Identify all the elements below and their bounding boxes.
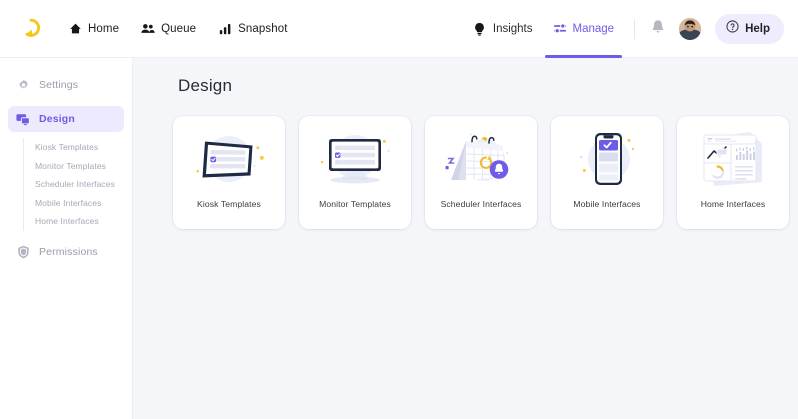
card-scheduler-interfaces[interactable]: Scheduler Interfaces bbox=[425, 116, 537, 229]
sidebar-item-design-label: Design bbox=[39, 113, 75, 125]
nav-item-manage[interactable]: Manage bbox=[543, 11, 625, 47]
people-icon bbox=[141, 22, 155, 36]
sidebar-sublist: Kiosk Templates Monitor Templates Schedu… bbox=[23, 138, 124, 231]
sidebar-subitem-monitor-templates[interactable]: Monitor Templates bbox=[35, 157, 124, 176]
nav-item-home[interactable]: Home bbox=[68, 22, 119, 36]
sidebar-item-settings-label: Settings bbox=[39, 79, 78, 91]
sidebar-item-permissions-label: Permissions bbox=[39, 246, 98, 258]
nav-item-home-label: Home bbox=[88, 23, 119, 35]
desktop-monitor-illustration bbox=[314, 128, 396, 190]
secondary-nav: Insights Manage bbox=[463, 11, 784, 47]
card-mobile-interfaces[interactable]: Mobile Interfaces bbox=[551, 116, 663, 229]
nav-item-manage-label: Manage bbox=[573, 23, 615, 35]
help-button[interactable]: Help bbox=[715, 14, 784, 44]
sidebar-item-settings[interactable]: Settings bbox=[8, 72, 124, 98]
sidebar-spacer bbox=[8, 98, 124, 106]
dashboard-illustration bbox=[692, 128, 774, 190]
card-home-interfaces-label: Home Interfaces bbox=[701, 199, 766, 209]
card-kiosk-templates[interactable]: Kiosk Templates bbox=[173, 116, 285, 229]
help-button-label: Help bbox=[745, 23, 770, 35]
card-home-interfaces[interactable]: Home Interfaces bbox=[677, 116, 789, 229]
sidebar: Settings Design Kiosk Templates Monitor … bbox=[0, 58, 133, 419]
q-logo-icon[interactable] bbox=[18, 16, 44, 42]
question-circle-icon bbox=[726, 20, 739, 38]
primary-nav: Home Queue bbox=[68, 22, 288, 36]
nav-item-snapshot[interactable]: Snapshot bbox=[218, 22, 287, 36]
top-header: Home Queue bbox=[0, 0, 798, 58]
sidebar-subitem-kiosk-templates[interactable]: Kiosk Templates bbox=[35, 138, 124, 157]
mobile-phone-illustration bbox=[566, 128, 648, 190]
kiosk-tablet-illustration bbox=[188, 128, 270, 190]
bar-chart-icon bbox=[218, 22, 232, 36]
calendar-bell-illustration bbox=[440, 128, 522, 190]
home-icon bbox=[68, 22, 82, 36]
nav-item-queue-label: Queue bbox=[161, 23, 196, 35]
sidebar-subitem-mobile-interfaces[interactable]: Mobile Interfaces bbox=[35, 194, 124, 213]
card-monitor-templates-label: Monitor Templates bbox=[319, 199, 391, 209]
shield-icon bbox=[16, 245, 30, 259]
gear-icon bbox=[16, 78, 30, 92]
header-divider bbox=[634, 19, 635, 39]
lightbulb-icon bbox=[473, 22, 487, 36]
main-content: Design bbox=[133, 58, 798, 419]
body: Settings Design Kiosk Templates Monitor … bbox=[0, 58, 798, 419]
nav-item-queue[interactable]: Queue bbox=[141, 22, 196, 36]
nav-item-insights-label: Insights bbox=[493, 23, 533, 35]
sidebar-item-design[interactable]: Design bbox=[8, 106, 124, 132]
sidebar-subitem-home-interfaces[interactable]: Home Interfaces bbox=[35, 212, 124, 231]
card-scheduler-interfaces-label: Scheduler Interfaces bbox=[441, 199, 522, 209]
card-mobile-interfaces-label: Mobile Interfaces bbox=[573, 199, 640, 209]
sidebar-subitem-scheduler-interfaces[interactable]: Scheduler Interfaces bbox=[35, 175, 124, 194]
page-title: Design bbox=[178, 76, 798, 96]
notifications-button[interactable] bbox=[645, 16, 671, 42]
app-root: Home Queue bbox=[0, 0, 798, 419]
sidebar-item-permissions[interactable]: Permissions bbox=[8, 239, 124, 265]
card-monitor-templates[interactable]: Monitor Templates bbox=[299, 116, 411, 229]
card-kiosk-templates-label: Kiosk Templates bbox=[197, 199, 261, 209]
nav-item-snapshot-label: Snapshot bbox=[238, 23, 287, 35]
sliders-icon bbox=[553, 22, 567, 36]
screen-icon bbox=[16, 112, 30, 126]
design-card-grid: Kiosk Templates bbox=[133, 116, 798, 229]
avatar[interactable] bbox=[679, 18, 701, 40]
bell-icon bbox=[651, 19, 665, 39]
nav-item-insights[interactable]: Insights bbox=[463, 11, 543, 47]
